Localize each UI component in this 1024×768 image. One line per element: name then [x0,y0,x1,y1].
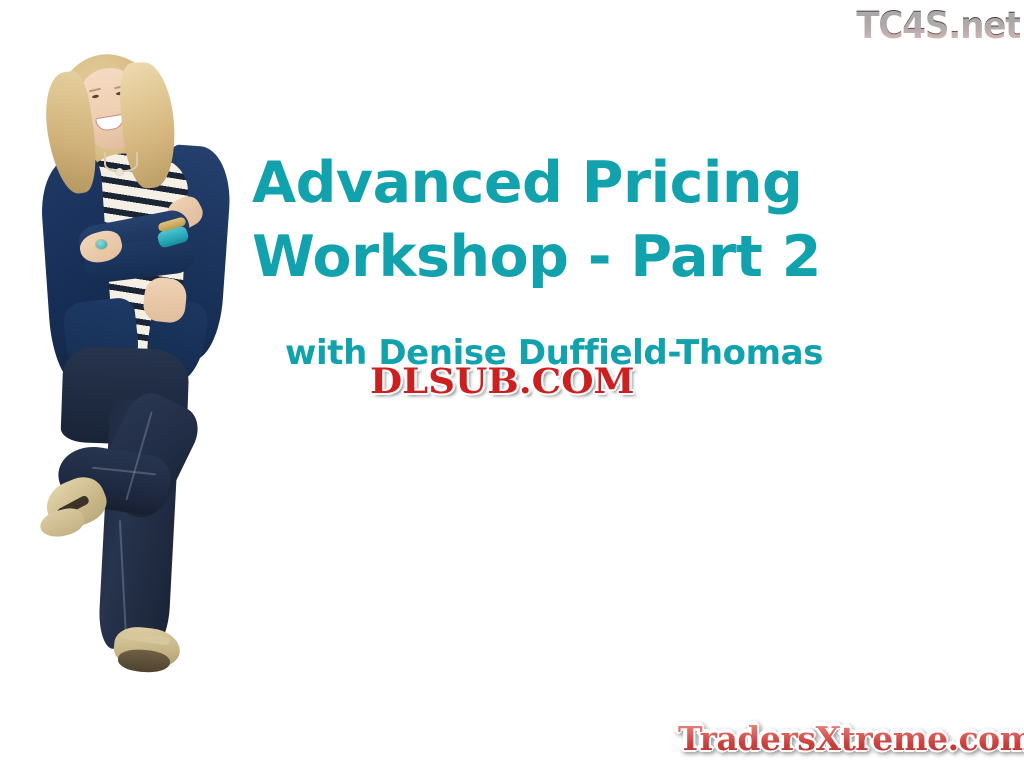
brand-logo: TC4S.net [832,2,1020,48]
presenter-midriff [142,276,188,324]
tradersxtreme-watermark: TradersXtreme.com [678,718,1024,760]
title-line-1: Advanced Pricing [252,146,872,220]
slide-canvas: TC4S.net [0,0,1024,768]
brand-logo-text: TC4S.net [856,7,1020,44]
presenter-photo [18,50,258,650]
page-title: Advanced Pricing Workshop - Part 2 [252,146,872,294]
dlsub-watermark: DLSUB.COM [370,362,635,402]
presenter-ring [96,240,107,249]
presenter-shoe-toe [38,505,87,541]
presenter-necklace-pendant [116,168,123,175]
title-line-2: Workshop - Part 2 [252,220,872,294]
